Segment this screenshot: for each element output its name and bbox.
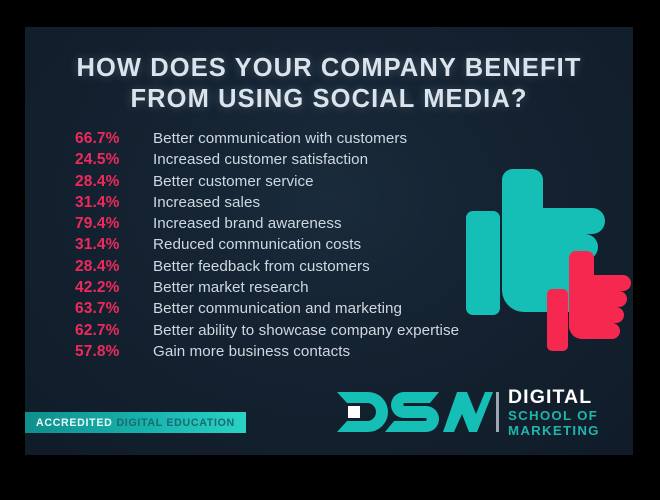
stat-label: Reduced communication costs	[153, 234, 361, 255]
logo-word-school-of: SCHOOL OF	[508, 409, 600, 422]
stat-percentage: 79.4%	[75, 213, 153, 234]
title-line-1: HOW DOES YOUR COMPANY BENEFIT	[25, 53, 633, 84]
stat-label: Better customer service	[153, 171, 314, 192]
stat-percentage: 57.8%	[75, 341, 153, 362]
page-title: HOW DOES YOUR COMPANY BENEFIT FROM USING…	[25, 53, 633, 115]
stat-label: Better communication and marketing	[153, 298, 402, 319]
stat-label: Increased brand awareness	[153, 213, 342, 234]
stat-percentage: 42.2%	[75, 277, 153, 298]
stat-label: Better ability to showcase company exper…	[153, 320, 459, 341]
dsm-logo-mark-icon	[335, 389, 493, 435]
stat-label: Better feedback from customers	[153, 256, 370, 277]
stat-label: Better market research	[153, 277, 309, 298]
stat-label: Increased customer satisfaction	[153, 149, 368, 170]
infographic-canvas: HOW DOES YOUR COMPANY BENEFIT FROM USING…	[25, 27, 633, 455]
badge-secondary-text: DIGITAL EDUCATION	[116, 417, 234, 429]
thumbs-up-illustration	[465, 139, 633, 364]
stat-percentage: 31.4%	[75, 234, 153, 255]
logo-word-marketing: MARKETING	[508, 424, 600, 437]
stat-percentage: 63.7%	[75, 298, 153, 319]
image-frame: HOW DOES YOUR COMPANY BENEFIT FROM USING…	[0, 0, 660, 500]
logo-wordmark: DIGITAL SCHOOL OF MARKETING	[508, 387, 600, 437]
stat-label: Gain more business contacts	[153, 341, 350, 362]
title-line-2: FROM USING SOCIAL MEDIA?	[25, 84, 633, 115]
dsm-logo: DIGITAL SCHOOL OF MARKETING	[335, 383, 620, 441]
badge-primary-text: ACCREDITED	[36, 417, 112, 429]
logo-word-digital: DIGITAL	[508, 388, 600, 408]
stat-percentage: 31.4%	[75, 192, 153, 213]
stat-percentage: 62.7%	[75, 320, 153, 341]
stat-percentage: 28.4%	[75, 171, 153, 192]
accredited-badge: ACCREDITED DIGITAL EDUCATION	[25, 412, 246, 433]
stat-label: Increased sales	[153, 192, 260, 213]
stat-percentage: 24.5%	[75, 149, 153, 170]
stat-percentage: 28.4%	[75, 256, 153, 277]
stat-label: Better communication with customers	[153, 128, 407, 149]
stat-percentage: 66.7%	[75, 128, 153, 149]
logo-divider	[496, 392, 499, 432]
